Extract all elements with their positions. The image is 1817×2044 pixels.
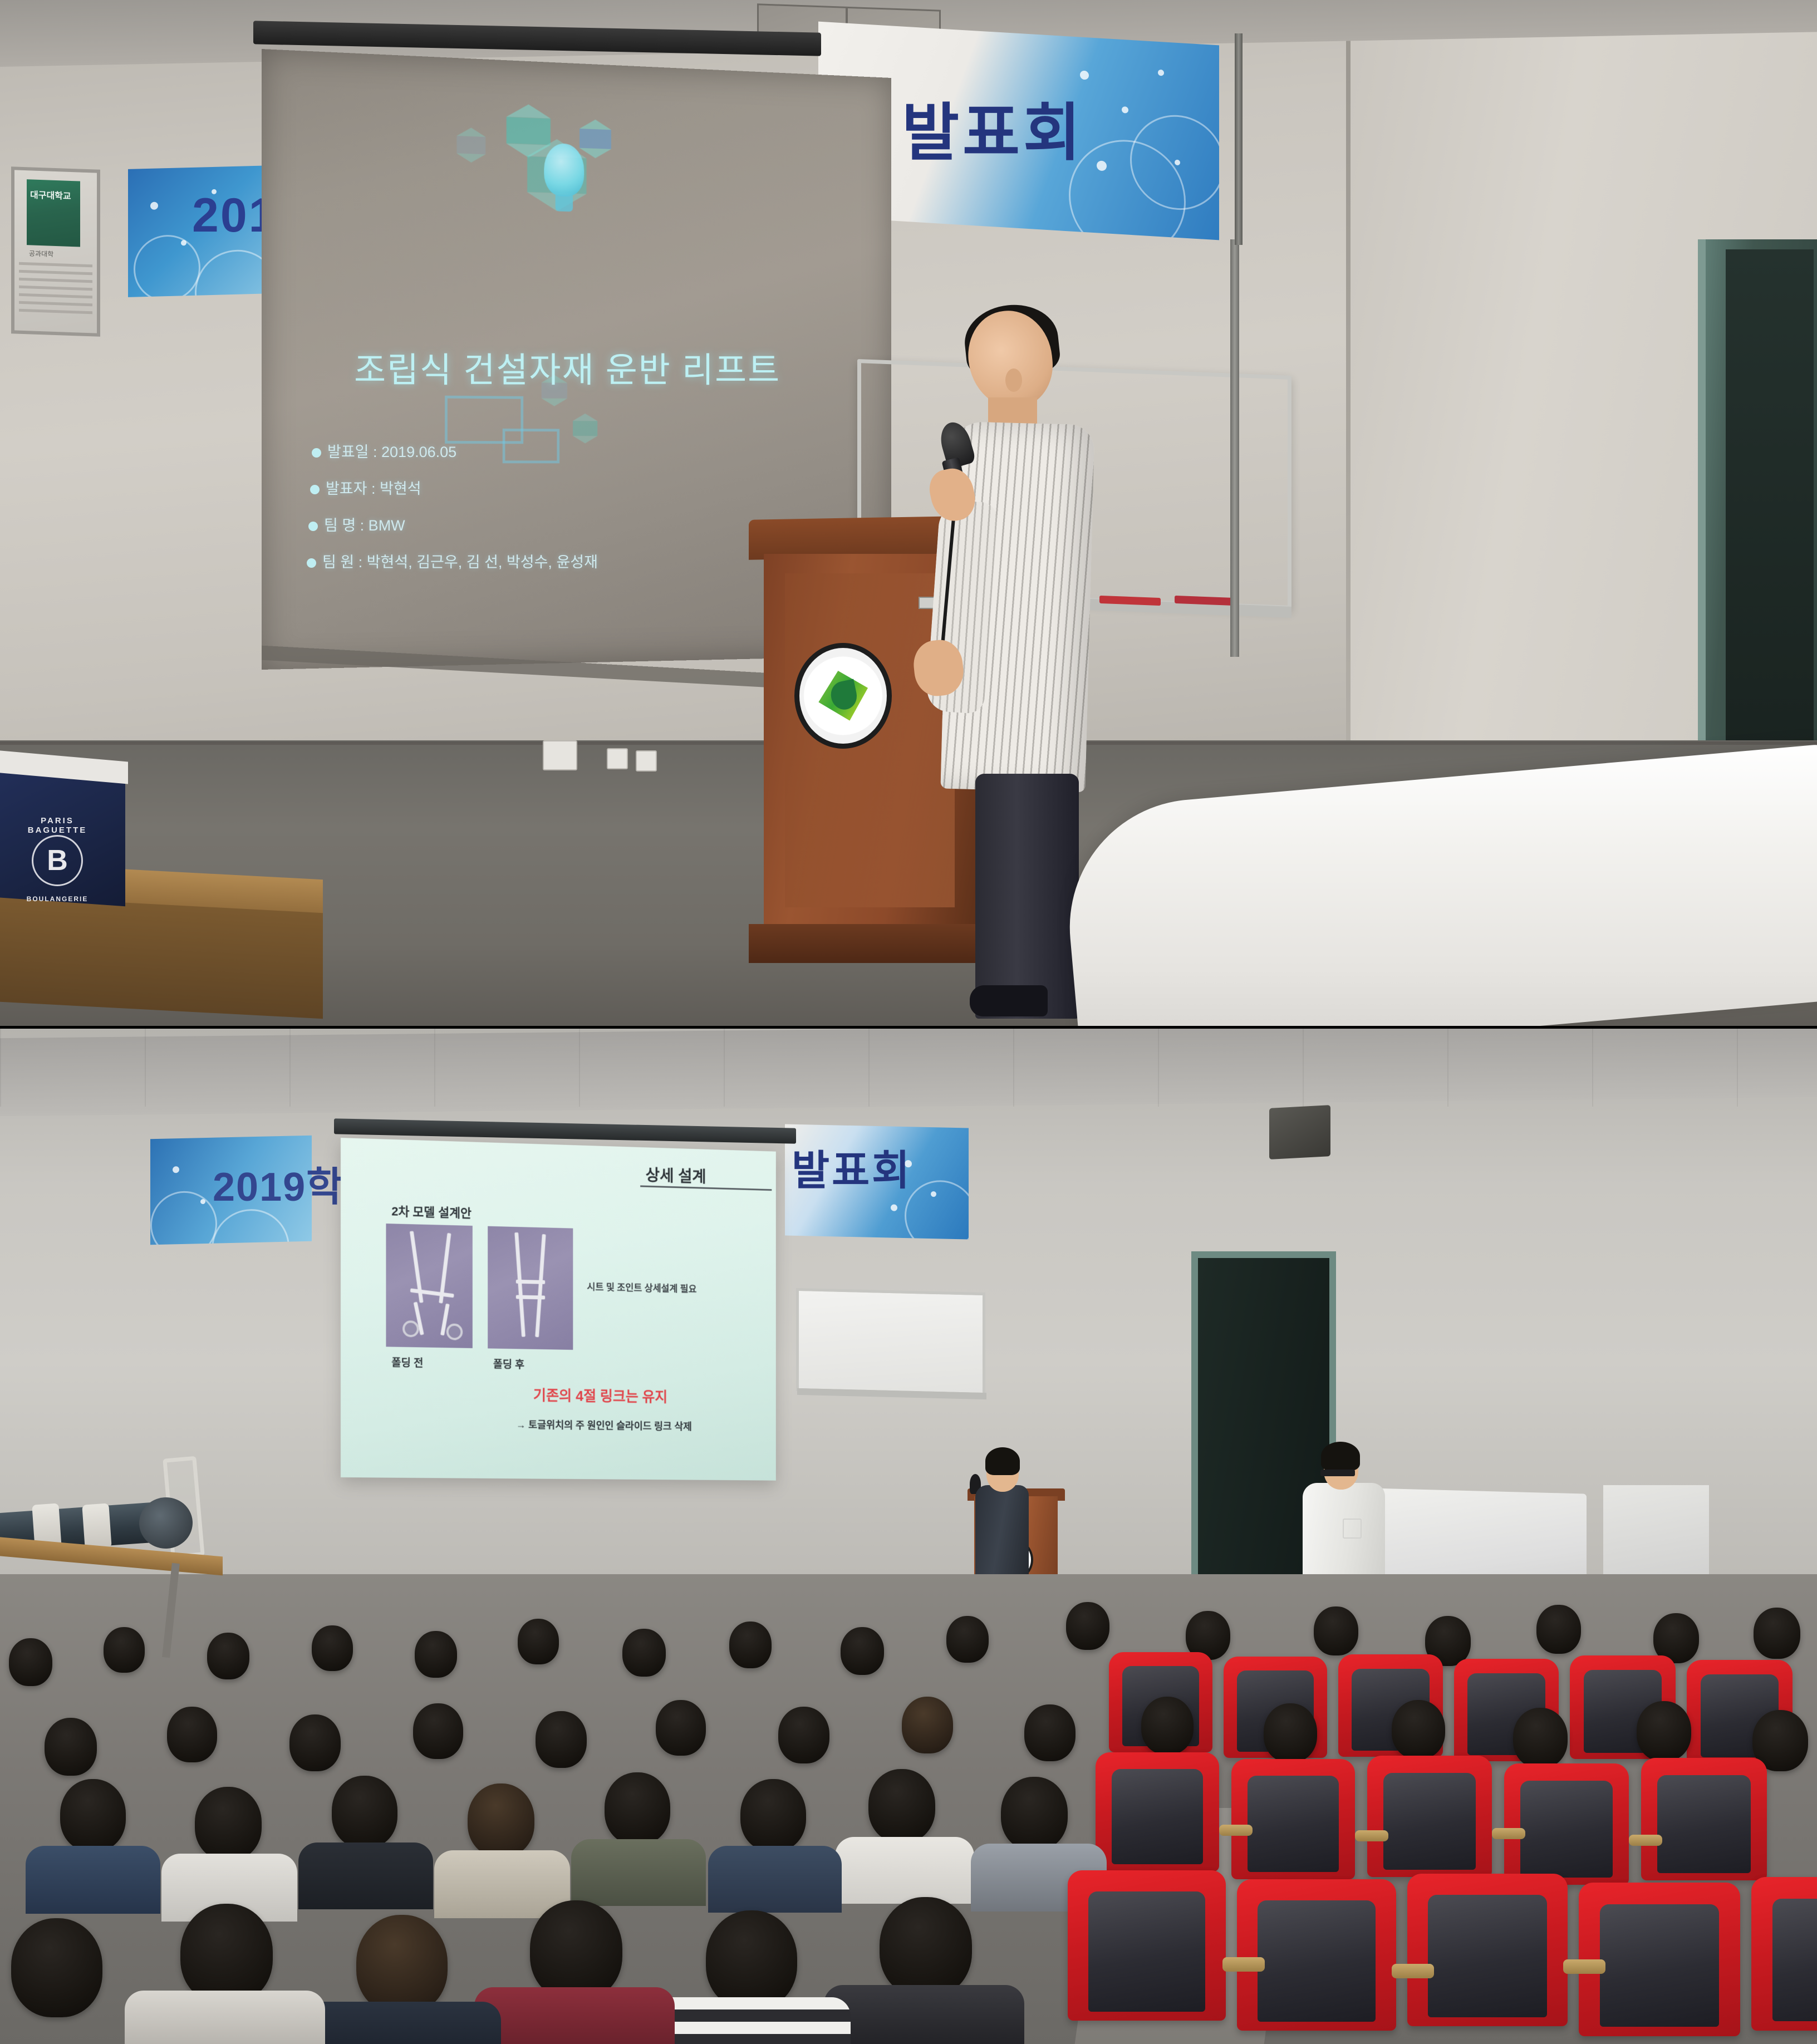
audience-head	[1001, 1777, 1068, 1850]
bullet-dot-icon	[307, 558, 316, 568]
audience-head	[778, 1707, 829, 1763]
audience-head	[195, 1787, 262, 1860]
audience-head	[1637, 1701, 1691, 1761]
audience-head	[740, 1779, 806, 1851]
presenter-hair-rear	[985, 1447, 1020, 1475]
auditorium-seat[interactable]	[1068, 1870, 1226, 2021]
operator-hair	[1321, 1442, 1360, 1471]
operator-shirt-pocket	[1343, 1519, 1362, 1539]
presenter-trousers	[975, 774, 1079, 1019]
audience-head	[356, 1915, 448, 2014]
audience-head	[289, 1714, 341, 1771]
slide-bullet-4: 팀 원 : 박현석, 김근우, 김 선, 박성수, 윤성재	[307, 550, 598, 572]
audience-head	[605, 1772, 670, 1845]
ceiling-grid	[0, 1029, 1817, 1107]
audience-shoulders	[835, 1837, 974, 1904]
seat-armrest	[1219, 1825, 1253, 1836]
auditorium-seat[interactable]	[1237, 1879, 1396, 2031]
seat-armrest	[1629, 1835, 1662, 1846]
audience-head	[167, 1707, 217, 1762]
poster-logo-image: 대구대학교	[27, 179, 80, 247]
audience-shoulders	[298, 1842, 433, 1909]
presenter-ear	[1005, 368, 1022, 392]
audience-head	[104, 1627, 145, 1673]
seat-armrest	[1492, 1828, 1525, 1839]
bslide-model-image-before	[386, 1224, 472, 1348]
auditorium-seat[interactable]	[1751, 1877, 1817, 2031]
audience-shoulders	[824, 1985, 1024, 2044]
slide-bullet-3: 팀 명 : BMW	[308, 513, 405, 535]
slide-bullet-2: 발표자 : 박현석	[310, 476, 421, 498]
audience-head	[1536, 1605, 1581, 1654]
whiteboard-stand-post	[1230, 239, 1239, 657]
bullet-dot-icon	[312, 448, 321, 458]
university-emblem	[794, 643, 892, 749]
podium-base	[749, 924, 988, 963]
audience-head	[1141, 1697, 1194, 1755]
banner-word-rear: 발표회	[792, 1137, 912, 1197]
projection-screen-rear: 상세 설계 2차 모델 설계안 시트 및 조인트 상세설계 필요 폴딩 전 폴	[341, 1138, 776, 1481]
audience-head	[880, 1897, 972, 1997]
audience-head	[312, 1625, 353, 1671]
audience-head	[656, 1700, 706, 1756]
poster-caption: 공과대학	[29, 248, 53, 259]
auditorium-seat[interactable]	[1367, 1756, 1492, 1877]
ceiling-mount-post	[1235, 33, 1243, 245]
banner-year-rear: 2019학	[213, 1154, 344, 1212]
presenter-shoe	[970, 985, 1048, 1016]
paper-bag-logo: PARIS BAGUETTE B BOULANGERIE	[16, 817, 99, 901]
audience-head	[1754, 1608, 1800, 1659]
bag-brand-monogram: B	[32, 835, 83, 886]
emblem-logo-icon	[813, 665, 873, 726]
audience-head	[1024, 1704, 1076, 1761]
auditorium-seat[interactable]	[1504, 1763, 1629, 1885]
equipment-ring-2	[82, 1503, 111, 1549]
bslide-subtitle: 2차 모델 설계안	[391, 1201, 471, 1221]
seat-armrest	[1355, 1830, 1388, 1841]
whiteboard-rear	[796, 1288, 985, 1396]
podium-front-panel	[785, 573, 955, 907]
audience-head	[207, 1633, 249, 1679]
doorway-interior	[1726, 249, 1814, 824]
audience-shoulders	[26, 1846, 160, 1914]
bslide-header: 상세 설계	[646, 1163, 706, 1187]
audience-shoulders	[474, 1987, 675, 2044]
seat-armrest	[1222, 1957, 1265, 1972]
slide-bullet-1: 발표일 : 2019.06.05	[312, 440, 456, 461]
bullet-dot-icon	[310, 485, 320, 494]
audience-head	[60, 1779, 126, 1851]
operator-glasses-icon	[1320, 1470, 1355, 1476]
audience-head	[1392, 1700, 1445, 1759]
photo-composite: 대구대학교 공과대학 2019 품 발표회	[0, 0, 1817, 2044]
audience-shoulders	[571, 1839, 706, 1906]
audience-shoulders	[125, 1991, 325, 2044]
audience-shoulders-striped	[650, 1997, 851, 2044]
wall-speaker	[1269, 1105, 1330, 1159]
audience-head	[902, 1697, 953, 1753]
audience-head	[9, 1638, 52, 1686]
wall-outlet-3	[636, 750, 657, 772]
bottom-photo-panel: 2019학 발표회 상세 설계 2차 모델 설계안	[0, 1029, 1817, 2044]
audience-head	[1066, 1602, 1109, 1650]
audience-shoulders	[708, 1846, 842, 1913]
audience-head	[11, 1918, 102, 2017]
bslide-highlight: 기존의 4절 링크는 유지	[533, 1384, 667, 1407]
auditorium-seat[interactable]	[1231, 1759, 1355, 1879]
bslide-caption-right: 폴딩 후	[493, 1356, 524, 1372]
audience-head	[706, 1910, 797, 2009]
framed-wall-poster: 대구대학교 공과대학	[11, 166, 100, 337]
audience-head	[841, 1627, 884, 1675]
poster-logo-text: 대구대학교	[30, 187, 71, 202]
slide-title: 조립식 건설자재 운반 리프트	[354, 342, 780, 392]
top-photo-panel: 대구대학교 공과대학 2019 품 발표회	[0, 0, 1817, 1026]
audience-head	[413, 1703, 463, 1759]
audience-head	[536, 1711, 587, 1768]
audience-head	[518, 1619, 559, 1664]
audience-shoulders	[301, 2002, 501, 2044]
bag-brand-top-text: PARIS BAGUETTE	[16, 816, 99, 835]
bslide-caption-left: 폴딩 전	[391, 1354, 423, 1370]
bslide-side-note: 시트 및 조인트 상세설계 필요	[587, 1279, 696, 1295]
audience-head	[1513, 1708, 1568, 1768]
audience-head	[729, 1622, 772, 1668]
auditorium-seat[interactable]	[1096, 1752, 1219, 1871]
audience-head	[622, 1629, 666, 1677]
audience-head	[180, 1904, 273, 2004]
seat-armrest	[1563, 1959, 1605, 1974]
doorway	[1698, 239, 1817, 824]
seat-armrest	[1392, 1964, 1434, 1978]
wall-outlet-2	[607, 748, 628, 769]
wall-outlet-1	[543, 740, 577, 770]
audience-head	[45, 1718, 97, 1776]
bslide-arrow-note: → 토글위치의 주 원인인 슬라이드 링크 삭제	[516, 1417, 692, 1433]
audience-head	[1314, 1606, 1358, 1655]
audience-head	[868, 1769, 935, 1842]
bslide-model-image-after	[488, 1226, 573, 1350]
auditorium-seat[interactable]	[1641, 1758, 1767, 1880]
audience-head	[1264, 1703, 1317, 1762]
auditorium-seat[interactable]	[1407, 1874, 1568, 2026]
bullet-dot-icon	[308, 522, 318, 531]
audience-head	[468, 1783, 534, 1857]
poster-text-lines	[19, 262, 92, 320]
audience-head	[530, 1900, 622, 2001]
audience-head	[332, 1776, 397, 1848]
side-table-body	[0, 896, 323, 1019]
audience-head	[946, 1616, 989, 1663]
banner-word-navy: 발표회	[902, 82, 1084, 173]
wall-corner-edge	[1346, 0, 1351, 835]
bag-brand-bottom-text: BOULANGERIE	[16, 895, 99, 903]
slide-hexagon-graphic	[440, 95, 656, 264]
audience-head	[415, 1631, 457, 1678]
